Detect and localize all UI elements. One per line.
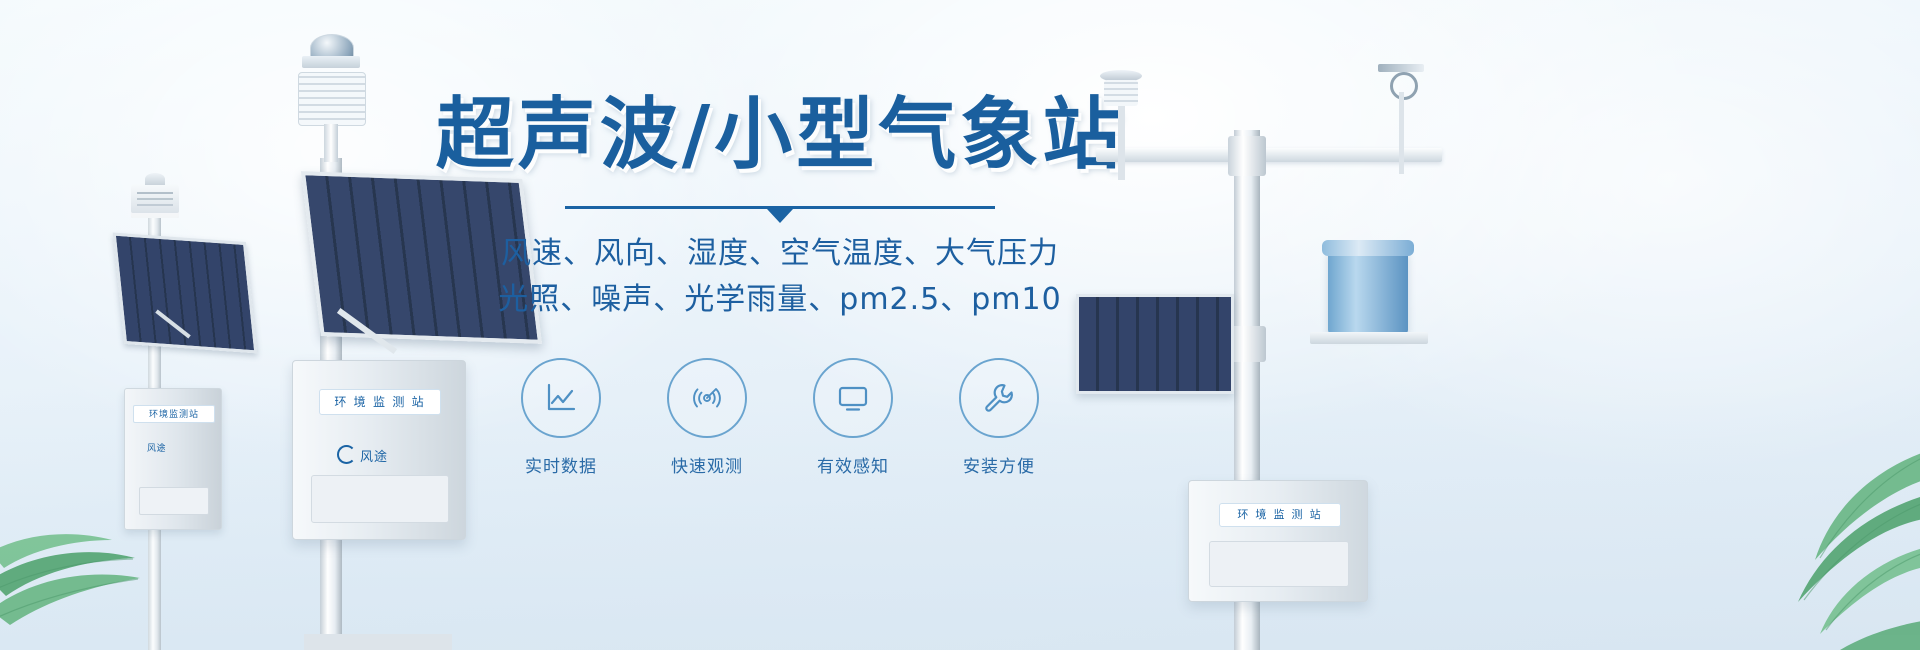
brand-logo: 风途 [147,441,166,454]
subtitle: 风速、风向、湿度、空气温度、大气压力 光照、噪声、光学雨量、pm2.5、pm10 [430,231,1130,324]
subtitle-line-2: 光照、噪声、光学雨量、pm2.5、pm10 [430,277,1130,324]
feature-label: 有效感知 [811,452,895,477]
radar-signal-icon [667,358,747,438]
cabinet-base [304,634,452,650]
wind-vane [1378,64,1424,72]
decorative-leaf-left [0,460,220,630]
mast-collar-top [1228,136,1266,176]
line-chart-icon [521,358,601,438]
sensor-cap [302,56,360,68]
solar-panel [1076,294,1234,394]
anemometer-cups [1390,72,1418,100]
title-separator: / [682,90,715,180]
monitor-screen-icon [813,358,893,438]
feature-item-effective-sensing[interactable]: 有效感知 [811,358,895,477]
sensor-body [1104,80,1138,106]
ultrasonic-sensor [1096,70,1146,114]
rain-gauge-lid [1322,240,1414,256]
weather-station-crossarm: 环 境 监 测 站 [1060,40,1500,650]
divider [565,206,995,209]
feature-list: 实时数据 快速观测 [430,358,1130,477]
cabinet-label: 环 境 监 测 站 [1219,503,1341,527]
feature-item-easy-install[interactable]: 安装方便 [957,358,1041,477]
title-main: 超声波 [436,90,682,180]
cabinet-label: 环境监测站 [133,405,215,423]
cross-arm [1096,148,1442,162]
sensor-stem [1118,106,1125,180]
chevron-down-icon [767,209,793,223]
radiation-shield-sensor [131,184,179,218]
feature-label: 安装方便 [957,452,1041,477]
brand-text: 风途 [360,449,388,464]
sensor-stem [1399,92,1404,174]
cabinet-door [1209,541,1349,587]
rain-gauge [1328,248,1408,334]
page-title: 超声波/小型气象站 [430,96,1130,176]
decorative-leaf-right [1670,420,1920,650]
cabinet-door [311,475,449,523]
control-cabinet: 环 境 监 测 站 [1188,480,1368,602]
wrench-icon [959,358,1039,438]
feature-item-fast-observation[interactable]: 快速观测 [665,358,749,477]
radiation-shield-sensor [298,72,366,126]
sensor-stem [324,124,338,162]
cabinet-label: 环 境 监 测 站 [319,389,441,415]
wind-vane-anemometer [1378,64,1424,150]
brand-mark-icon [337,445,356,464]
banner-content: 超声波/小型气象站 风速、风向、湿度、空气温度、大气压力 光照、噪声、光学雨量、… [430,96,1130,477]
product-banner: 环境监测站 风途 环 境 监 测 站 风途 超声波/小型气象站 风速、风向、湿度… [0,0,1920,650]
feature-item-realtime-data[interactable]: 实时数据 [519,358,603,477]
brand-logo: 风途 [337,445,388,465]
feature-label: 快速观测 [665,452,749,477]
mounting-shelf [1310,332,1428,344]
feature-label: 实时数据 [519,452,603,477]
subtitle-line-1: 风速、风向、湿度、空气温度、大气压力 [430,231,1130,278]
